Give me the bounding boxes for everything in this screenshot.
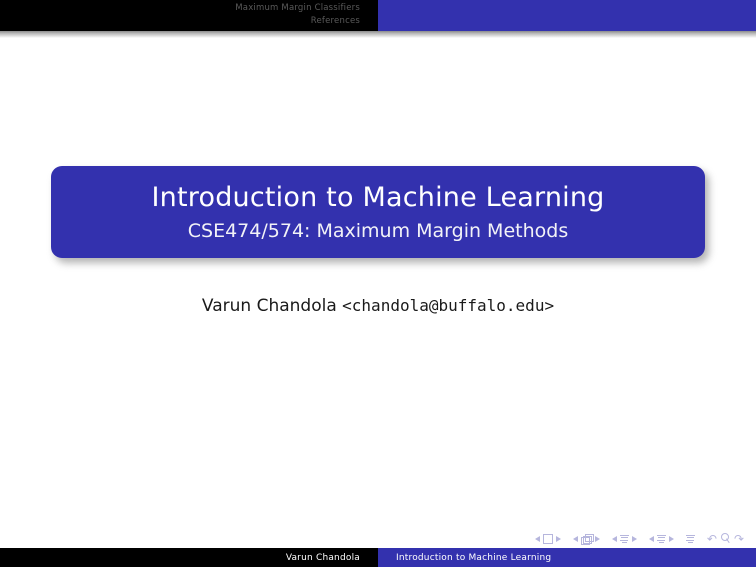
back-icon[interactable]: ↶ [707,533,717,545]
author-line: Varun Chandola <chandola@buffalo.edu> [0,296,756,316]
history-nav-group[interactable]: ↶ ↷ [707,533,744,545]
subsection-nav-group[interactable] [612,535,637,544]
prev-subsection-icon[interactable] [612,536,617,542]
subsection-icon[interactable] [620,535,629,544]
slide-headline: Maximum Margin Classifiers References [0,0,756,31]
headline-right-blue [378,0,756,31]
frame-icon[interactable] [581,534,592,544]
footline-left-black: Varun Chandola [0,548,378,567]
prev-frame-icon[interactable] [573,536,578,542]
forward-icon[interactable]: ↷ [734,533,744,545]
title-block: Introduction to Machine Learning CSE474/… [51,166,705,258]
footer-author: Varun Chandola [286,553,360,563]
frame-nav-group[interactable] [573,534,600,544]
author-name: Varun Chandola [202,296,337,316]
headline-left-black: Maximum Margin Classifiers References [0,0,378,31]
prev-slide-icon[interactable] [535,536,540,542]
footline-right-blue: Introduction to Machine Learning [378,548,756,567]
section-nav-group[interactable] [649,535,674,544]
slide-nav-group[interactable] [535,534,561,544]
header-shadow [0,31,756,38]
section-icon[interactable] [657,535,666,544]
headline-nav-item-1[interactable]: References [235,15,360,28]
headline-nav-item-0[interactable]: Maximum Margin Classifiers [235,2,360,15]
find-icon[interactable] [720,533,731,545]
author-email: <chandola@buffalo.edu> [342,296,554,315]
document-icon[interactable] [686,535,695,544]
title-block-panel: Introduction to Machine Learning CSE474/… [51,166,705,258]
footer-title: Introduction to Machine Learning [396,553,551,563]
next-slide-icon[interactable] [556,536,561,542]
next-subsection-icon[interactable] [632,536,637,542]
next-section-icon[interactable] [669,536,674,542]
page-subtitle: CSE474/574: Maximum Margin Methods [188,218,568,244]
page-title: Introduction to Machine Learning [152,181,605,215]
document-nav-group[interactable] [686,535,695,544]
slide-icon[interactable] [543,534,553,544]
next-frame-icon[interactable] [595,536,600,542]
slide-footline: Varun Chandola Introduction to Machine L… [0,548,756,567]
beamer-navigation-symbols[interactable]: ↶ ↷ [535,531,744,547]
headline-section-nav[interactable]: Maximum Margin Classifiers References [235,2,360,28]
prev-section-icon[interactable] [649,536,654,542]
